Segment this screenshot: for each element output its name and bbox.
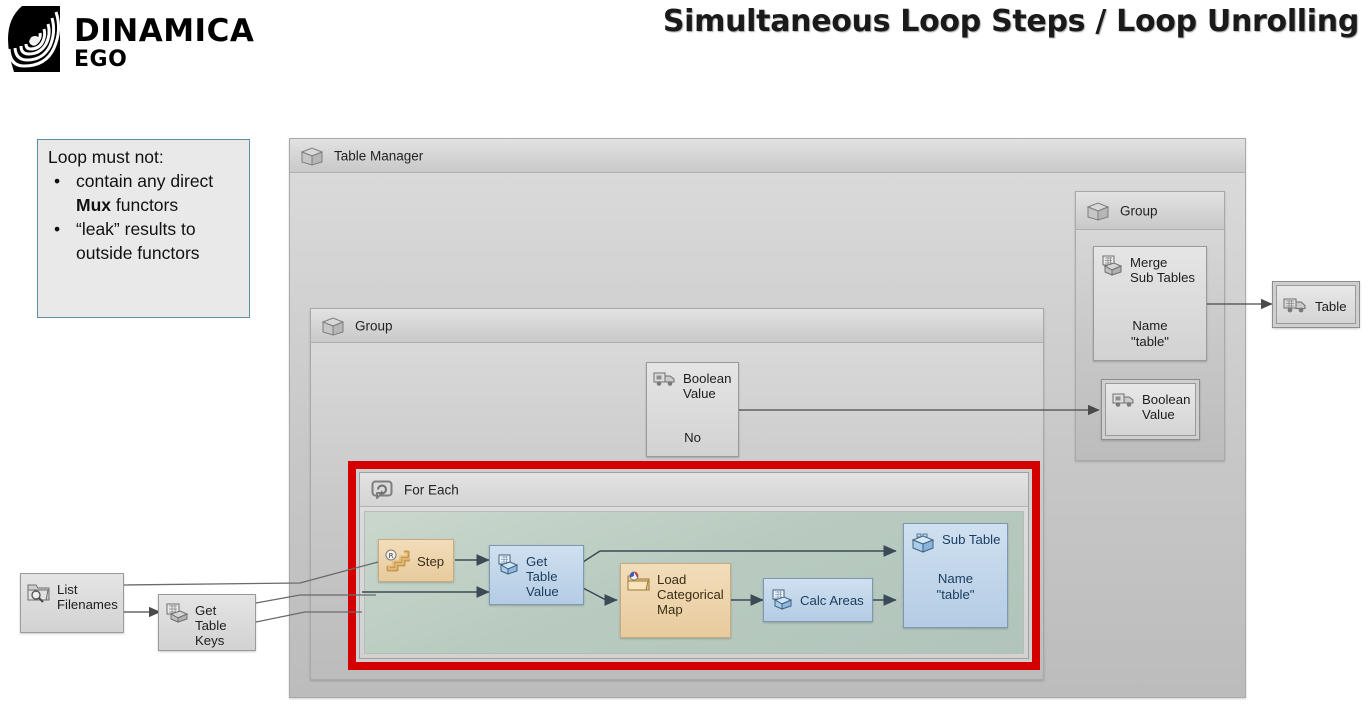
node-calc-areas-label: Calc Areas — [800, 592, 864, 608]
note-bullet-leak-text: “leak” results to outside functors — [76, 219, 200, 262]
node-load-categorical-map[interactable]: Load Categorical Map — [620, 563, 731, 638]
group-right-header: Group — [1076, 192, 1224, 230]
group-main-title: Group — [355, 318, 393, 333]
page-title: Simultaneous Loop Steps / Loop Unrolling — [663, 4, 1359, 39]
group-main-header: Group — [311, 309, 1043, 343]
node-merge-sub-tables-sub: Name "table" — [1094, 318, 1206, 350]
table-cube-icon — [165, 602, 189, 624]
dinamica-ego-logo: DINAMICA EGO — [6, 4, 256, 80]
table-cube-blue-icon — [770, 588, 794, 612]
spiral-logo-icon — [6, 4, 68, 74]
node-calc-areas[interactable]: Calc Areas — [763, 578, 873, 622]
cube-blue-icon — [910, 531, 936, 555]
node-boolean-value-group-label: Boolean Value — [683, 370, 731, 401]
for-each-header: For Each — [360, 473, 1028, 507]
for-each-title: For Each — [404, 482, 459, 497]
node-get-table-keys-label: Get Table Keys — [195, 602, 251, 649]
note-bullet-leak: “leak” results to outside functors — [48, 218, 241, 265]
merge-cube-icon — [1100, 254, 1124, 278]
node-sub-table-sub: Name "table" — [904, 571, 1007, 603]
table-cube-blue-icon — [496, 553, 520, 577]
node-table-output[interactable]: Table — [1272, 281, 1360, 328]
svg-text:R: R — [389, 552, 394, 560]
container-box-icon — [321, 316, 345, 336]
node-sub-table-label: Sub Table — [942, 531, 1000, 547]
group-right-title: Group — [1120, 203, 1158, 218]
container-box-icon — [300, 146, 324, 166]
node-table-output-label: Table — [1315, 298, 1347, 314]
truck-table-icon — [1283, 297, 1309, 315]
folder-search-icon — [27, 581, 51, 603]
node-boolean-value-right[interactable]: Boolean Value — [1101, 379, 1200, 440]
logo-secondary-text: EGO — [74, 49, 254, 71]
table-manager-title: Table Manager — [334, 148, 423, 163]
node-merge-sub-tables[interactable]: Merge Sub Tables Name "table" — [1093, 246, 1207, 361]
note-bullet-mux-bold: Mux — [76, 195, 111, 215]
note-heading: Loop must not: — [48, 146, 241, 169]
node-boolean-value-group[interactable]: Boolean Value No — [646, 362, 739, 457]
node-list-filenames[interactable]: List Filenames — [20, 573, 124, 633]
note-bullet-list: contain any direct Mux functors “leak” r… — [48, 170, 241, 265]
note-bullet-mux: contain any direct Mux functors — [48, 170, 241, 217]
constraints-note-box: Loop must not: contain any direct Mux fu… — [37, 139, 250, 318]
truck-boolean-icon — [1112, 391, 1136, 409]
folder-map-icon — [627, 571, 651, 593]
truck-boolean-icon — [653, 370, 677, 388]
note-bullet-mux-post: functors — [111, 195, 178, 215]
logo-primary-text: DINAMICA — [74, 16, 254, 47]
step-stairs-icon: R — [385, 549, 411, 573]
node-sub-table[interactable]: Sub Table Name "table" — [903, 523, 1008, 628]
container-box-icon — [1086, 201, 1110, 221]
table-manager-header: Table Manager — [290, 139, 1245, 173]
node-step[interactable]: R Step — [378, 539, 454, 582]
node-boolean-value-group-value: No — [647, 430, 738, 446]
node-list-filenames-label: List Filenames — [57, 581, 118, 612]
node-load-categorical-map-label: Load Categorical Map — [657, 571, 724, 618]
node-get-table-keys[interactable]: Get Table Keys — [158, 594, 256, 651]
node-get-table-value[interactable]: Get Table Value — [489, 545, 584, 605]
node-merge-sub-tables-label: Merge Sub Tables — [1130, 254, 1195, 285]
node-boolean-value-right-label: Boolean Value — [1142, 391, 1190, 422]
node-get-table-value-label: Get Table Value — [526, 553, 579, 600]
loop-arrow-icon — [370, 479, 394, 501]
node-step-label: Step — [417, 553, 444, 569]
note-bullet-mux-pre: contain any direct — [76, 171, 213, 191]
